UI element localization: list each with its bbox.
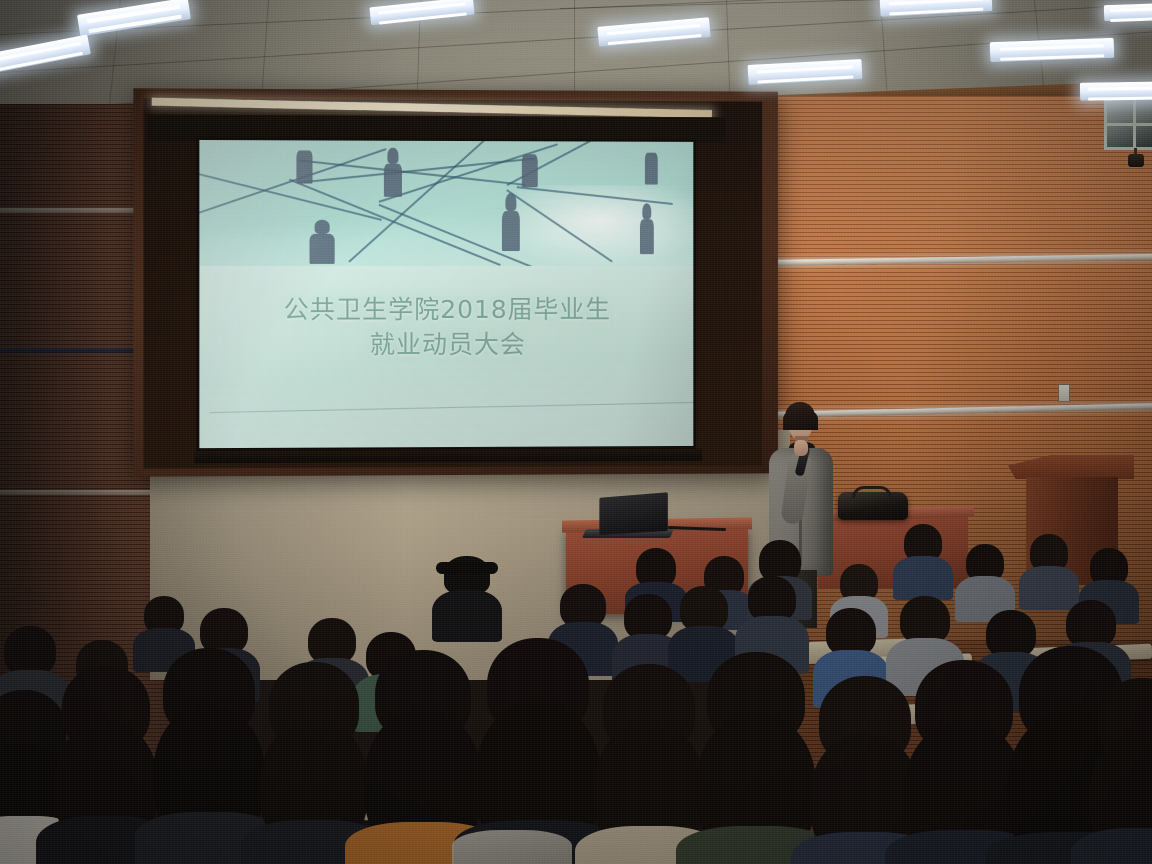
slide-network-graphic [199,140,693,267]
control-booth-window [1104,96,1152,150]
ceiling-speaker [1128,154,1144,167]
projection-screen-frame: 公共卫生学院2018届毕业生 就业动员大会 [133,88,778,476]
slide-title-line-2: 就业动员大会 [199,327,693,363]
audience-member [156,648,262,864]
patterned-garment [452,830,572,864]
silhouette-figure [502,211,520,251]
lecture-hall-photo: 公共卫生学院2018届毕业生 就业动员大会 [0,0,1152,864]
audience-member [900,524,946,596]
seated-audience [0,500,1152,864]
silhouette-figure [384,163,402,197]
audience-member [1092,678,1152,864]
wall-light-strip [766,254,1152,266]
ceiling-light-panel [597,17,710,47]
silhouette-figure [640,219,655,254]
silhouette-figure [297,150,313,183]
audience-member [962,544,1008,618]
slide-title-line-1: 公共卫生学院2018届毕业生 [199,292,693,328]
ceiling-light-panel [880,0,993,17]
wall-light-switch[interactable] [1058,384,1070,402]
audience-member [596,664,702,864]
slide-hairline [209,402,693,413]
audience-member [1026,534,1072,606]
silhouette-figure [309,234,335,264]
slide-title-area: 公共卫生学院2018届毕业生 就业动员大会 [199,266,693,448]
ceiling-light-panel [1080,81,1152,101]
audience-member [812,676,918,864]
ceiling-light-panel [748,59,863,85]
silhouette-figure [645,153,659,184]
projection-screen[interactable]: 公共卫生学院2018届毕业生 就业动员大会 [196,137,696,451]
ceiling-light-panel [369,0,474,25]
slide-title: 公共卫生学院2018届毕业生 就业动员大会 [199,292,693,364]
audience-member [262,662,366,864]
silhouette-figure [522,154,538,188]
screen-bottom-bar [194,449,702,463]
ceiling-light-panel [1104,3,1152,21]
ceiling-light-panel [990,38,1115,62]
ceiling-light-panel [77,0,191,37]
audience-member [700,652,812,864]
audience-member [908,660,1020,864]
audience-member-with-cap [438,556,496,640]
ceiling-light-panel [0,34,91,73]
